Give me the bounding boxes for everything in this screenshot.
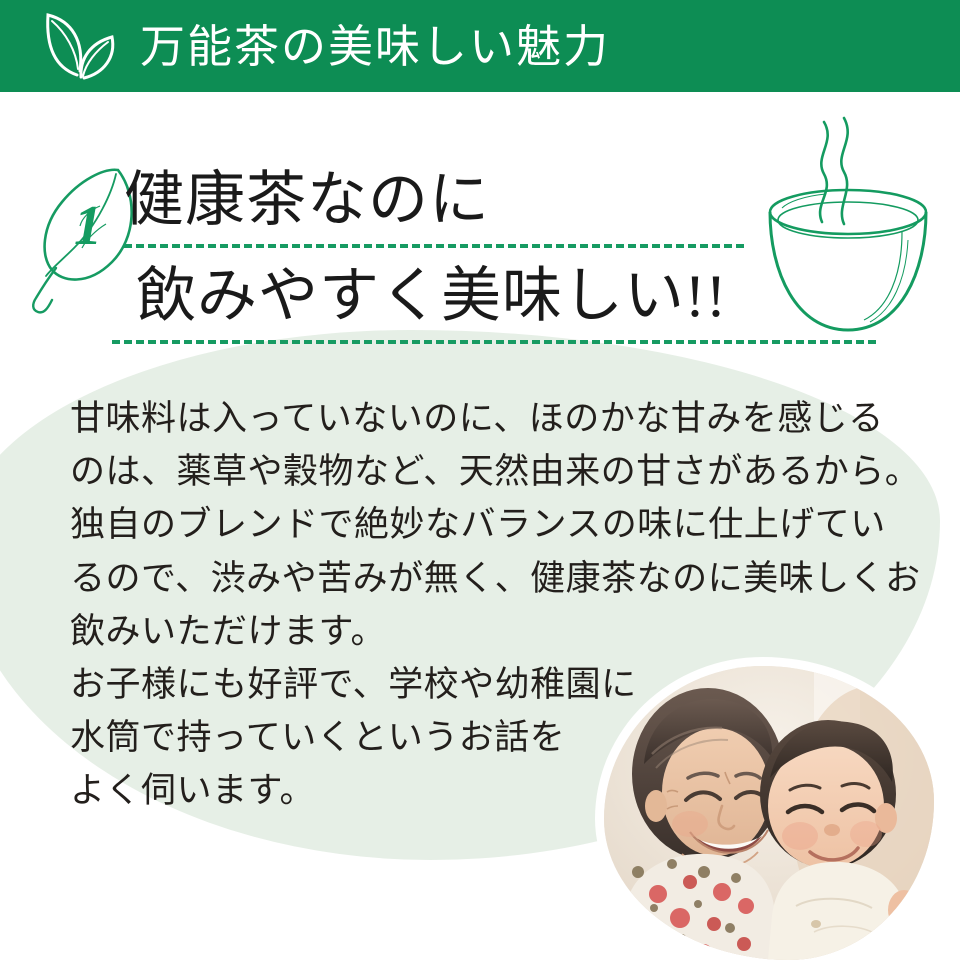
- body-line: のは、薬草や穀物など、天然由来の甘さがあるから。: [70, 445, 930, 498]
- grandmother-and-baby-photo: [604, 666, 934, 960]
- headline-dashed-rule-2: [112, 340, 876, 344]
- badge-number: 1: [74, 195, 102, 257]
- body-line: 独自のブレンドで絶妙なバランスの味に仕上げてい: [70, 498, 930, 551]
- photo-clip-frame: [604, 666, 934, 960]
- body-line: 甘味料は入っていないのに、ほのかな甘みを感じる: [70, 392, 930, 445]
- photo-artwork: [604, 666, 934, 960]
- header-bar: 万能茶の美味しい魅力: [0, 0, 960, 92]
- body-line: 飲みいただけます。: [70, 605, 930, 658]
- headline-block: 健康茶なのに 飲みやすく美味しい!!: [124, 170, 876, 344]
- body-line: るので、渋みや苦みが無く、健康茶なのに美味しくお: [70, 552, 930, 605]
- headline-line-2: 飲みやすく美味しい!!: [124, 248, 876, 340]
- header-title: 万能茶の美味しい魅力: [140, 24, 610, 69]
- headline-line-1: 健康茶なのに: [124, 170, 876, 244]
- tea-leaves-icon: [36, 9, 122, 83]
